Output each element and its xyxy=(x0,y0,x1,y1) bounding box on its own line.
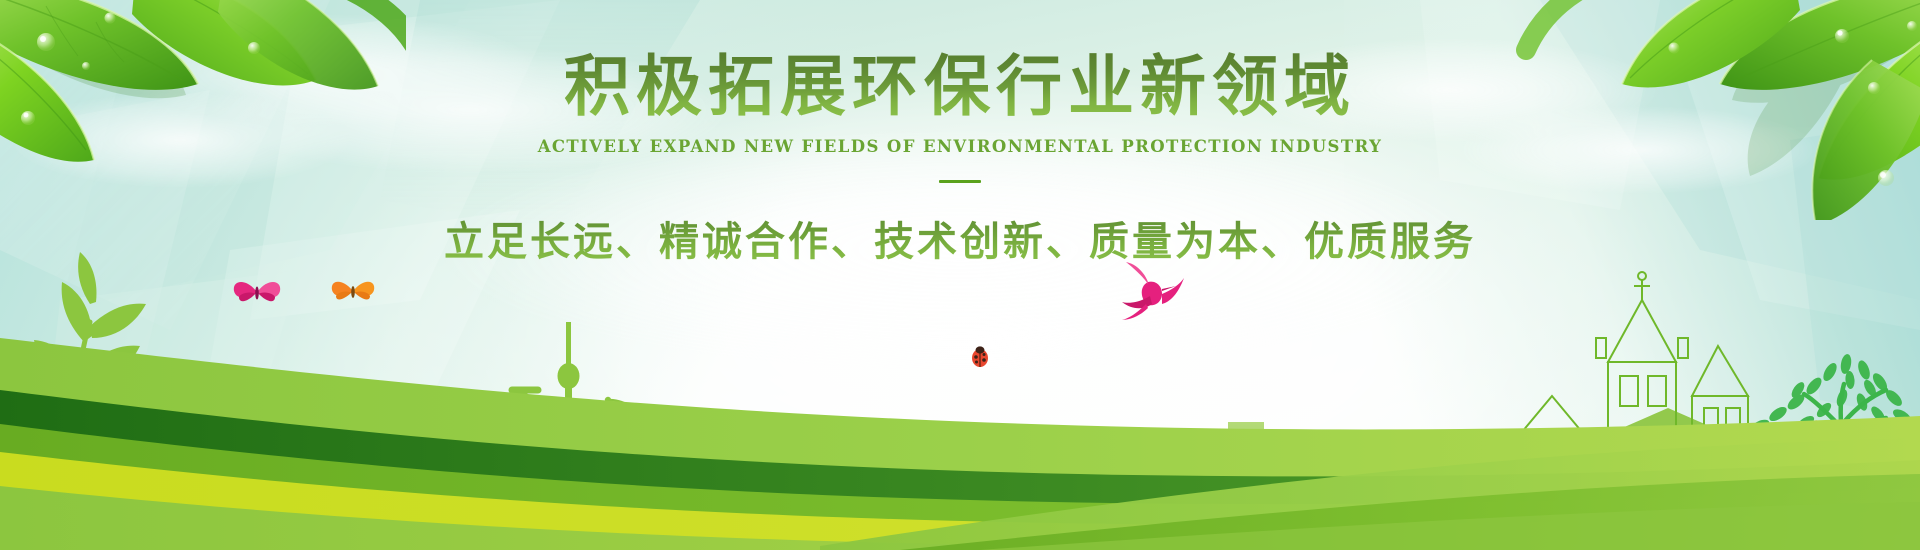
hummingbird xyxy=(1122,262,1184,320)
title-divider xyxy=(939,180,981,183)
environmental-banner: 积极拓展环保行业新领域 ACTIVELY EXPAND NEW FIELDS O… xyxy=(0,0,1920,550)
headline-block: 积极拓展环保行业新领域 ACTIVELY EXPAND NEW FIELDS O… xyxy=(0,52,1920,267)
butterfly-orange xyxy=(332,282,374,300)
wave-bands xyxy=(0,320,1920,550)
butterfly-pink xyxy=(234,282,280,301)
page-title: 积极拓展环保行业新领域 xyxy=(0,52,1920,121)
tagline: 立足长远、精诚合作、技术创新、质量为本、优质服务 xyxy=(0,209,1920,267)
subtitle-english: ACTIVELY EXPAND NEW FIELDS OF ENVIRONMEN… xyxy=(0,137,1920,156)
